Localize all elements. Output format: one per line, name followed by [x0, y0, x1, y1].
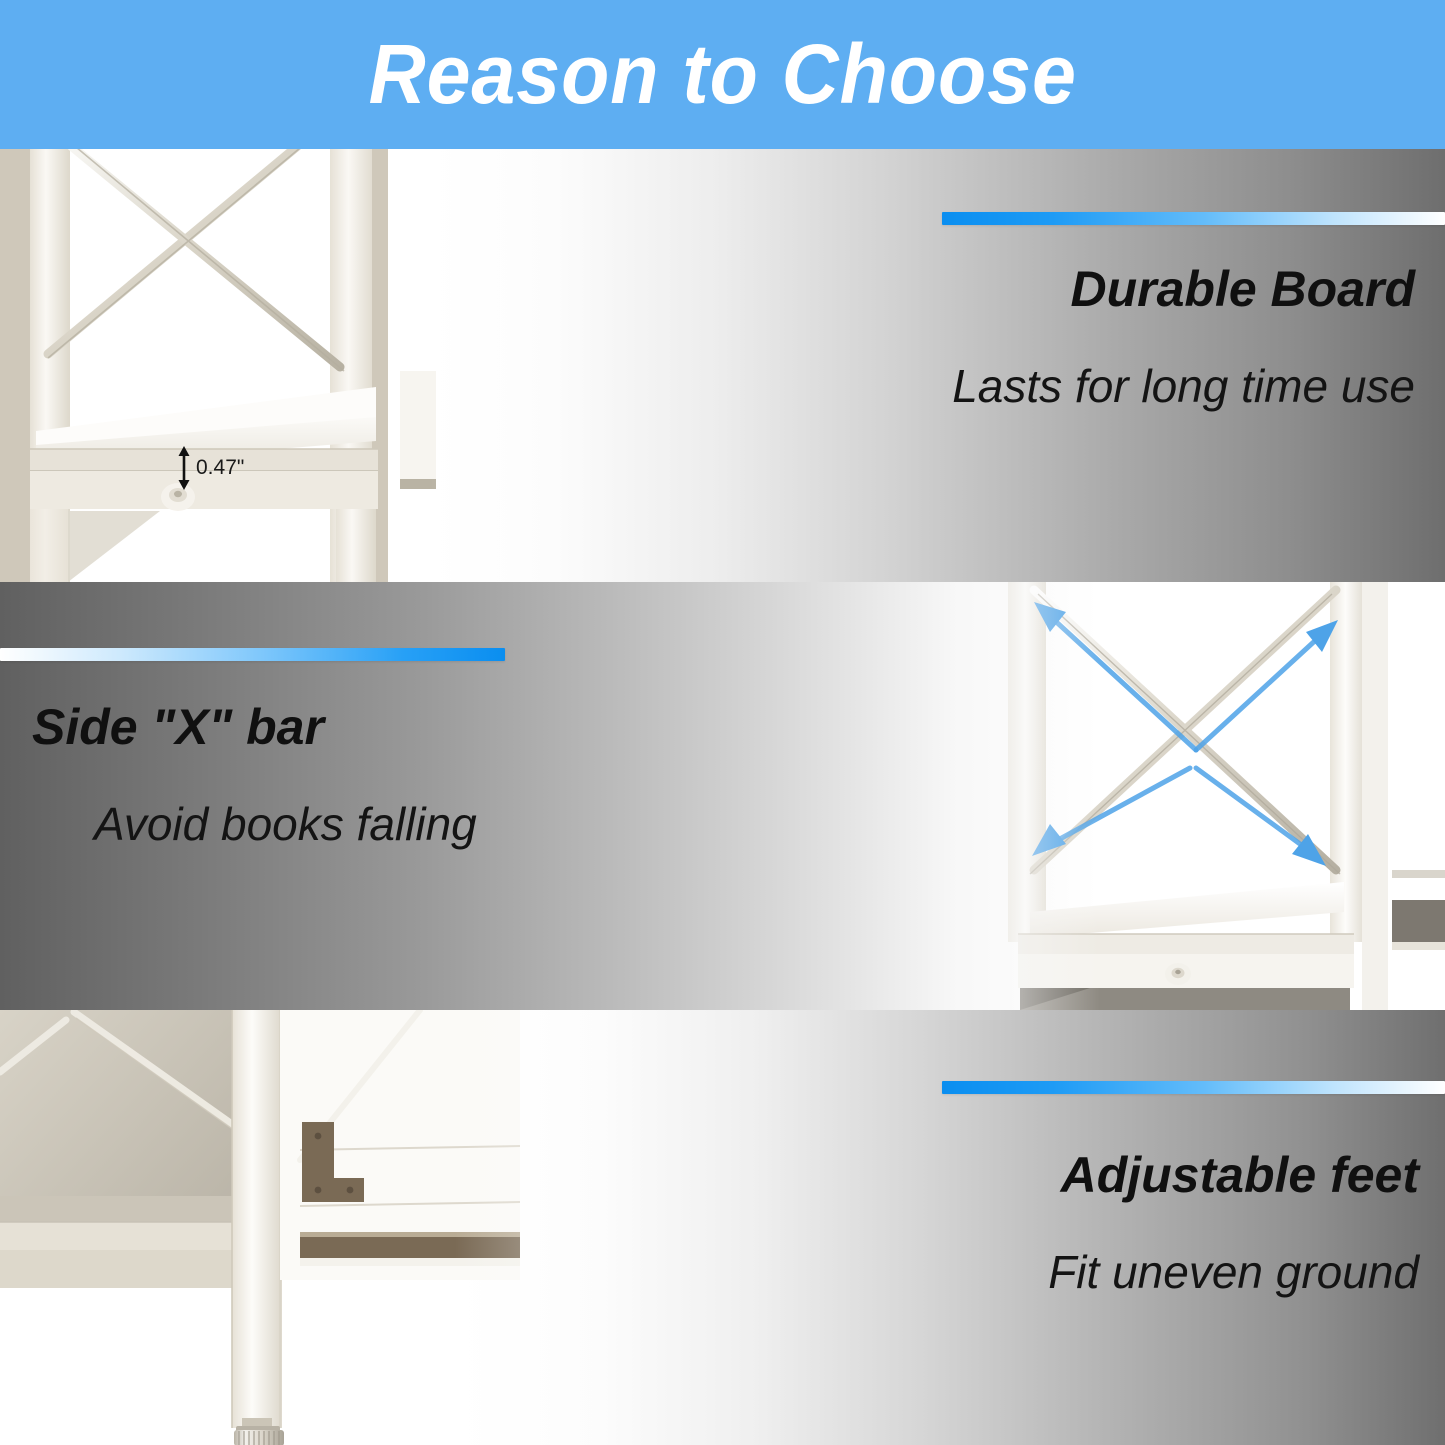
panel-2-accent-bar [0, 648, 505, 661]
dimension-label: 0.47" [196, 456, 244, 480]
panel-3-accent-bar [942, 1081, 1445, 1094]
page-title: Reason to Choose [368, 26, 1076, 123]
adjustable-foot-illustration [0, 1010, 520, 1445]
panel-1-title: Durable Board [952, 262, 1415, 317]
header-banner: Reason to Choose [0, 0, 1445, 149]
infographic-page: Reason to Choose [0, 0, 1445, 1445]
panel-2-title: Side "X" bar [32, 700, 477, 755]
panel-1-subtitle: Lasts for long time use [952, 361, 1415, 412]
panel-3-title: Adjustable feet [1048, 1148, 1419, 1203]
x-bar-illustration [1000, 582, 1445, 1010]
panel-3-subtitle: Fit uneven ground [1048, 1247, 1419, 1298]
panel-1-text-block: Durable Board Lasts for long time use [952, 262, 1415, 412]
panel-1-accent-bar [942, 212, 1445, 225]
panel-2-text-block: Side "X" bar Avoid books falling [32, 700, 477, 850]
double-arrow-vertical-icon [176, 446, 192, 490]
shelf-board-illustration [0, 149, 500, 582]
panel-2-subtitle: Avoid books falling [94, 799, 477, 850]
dimension-callout-board-thickness: 0.47" [176, 446, 244, 490]
panel-3-text-block: Adjustable feet Fit uneven ground [1048, 1148, 1419, 1298]
